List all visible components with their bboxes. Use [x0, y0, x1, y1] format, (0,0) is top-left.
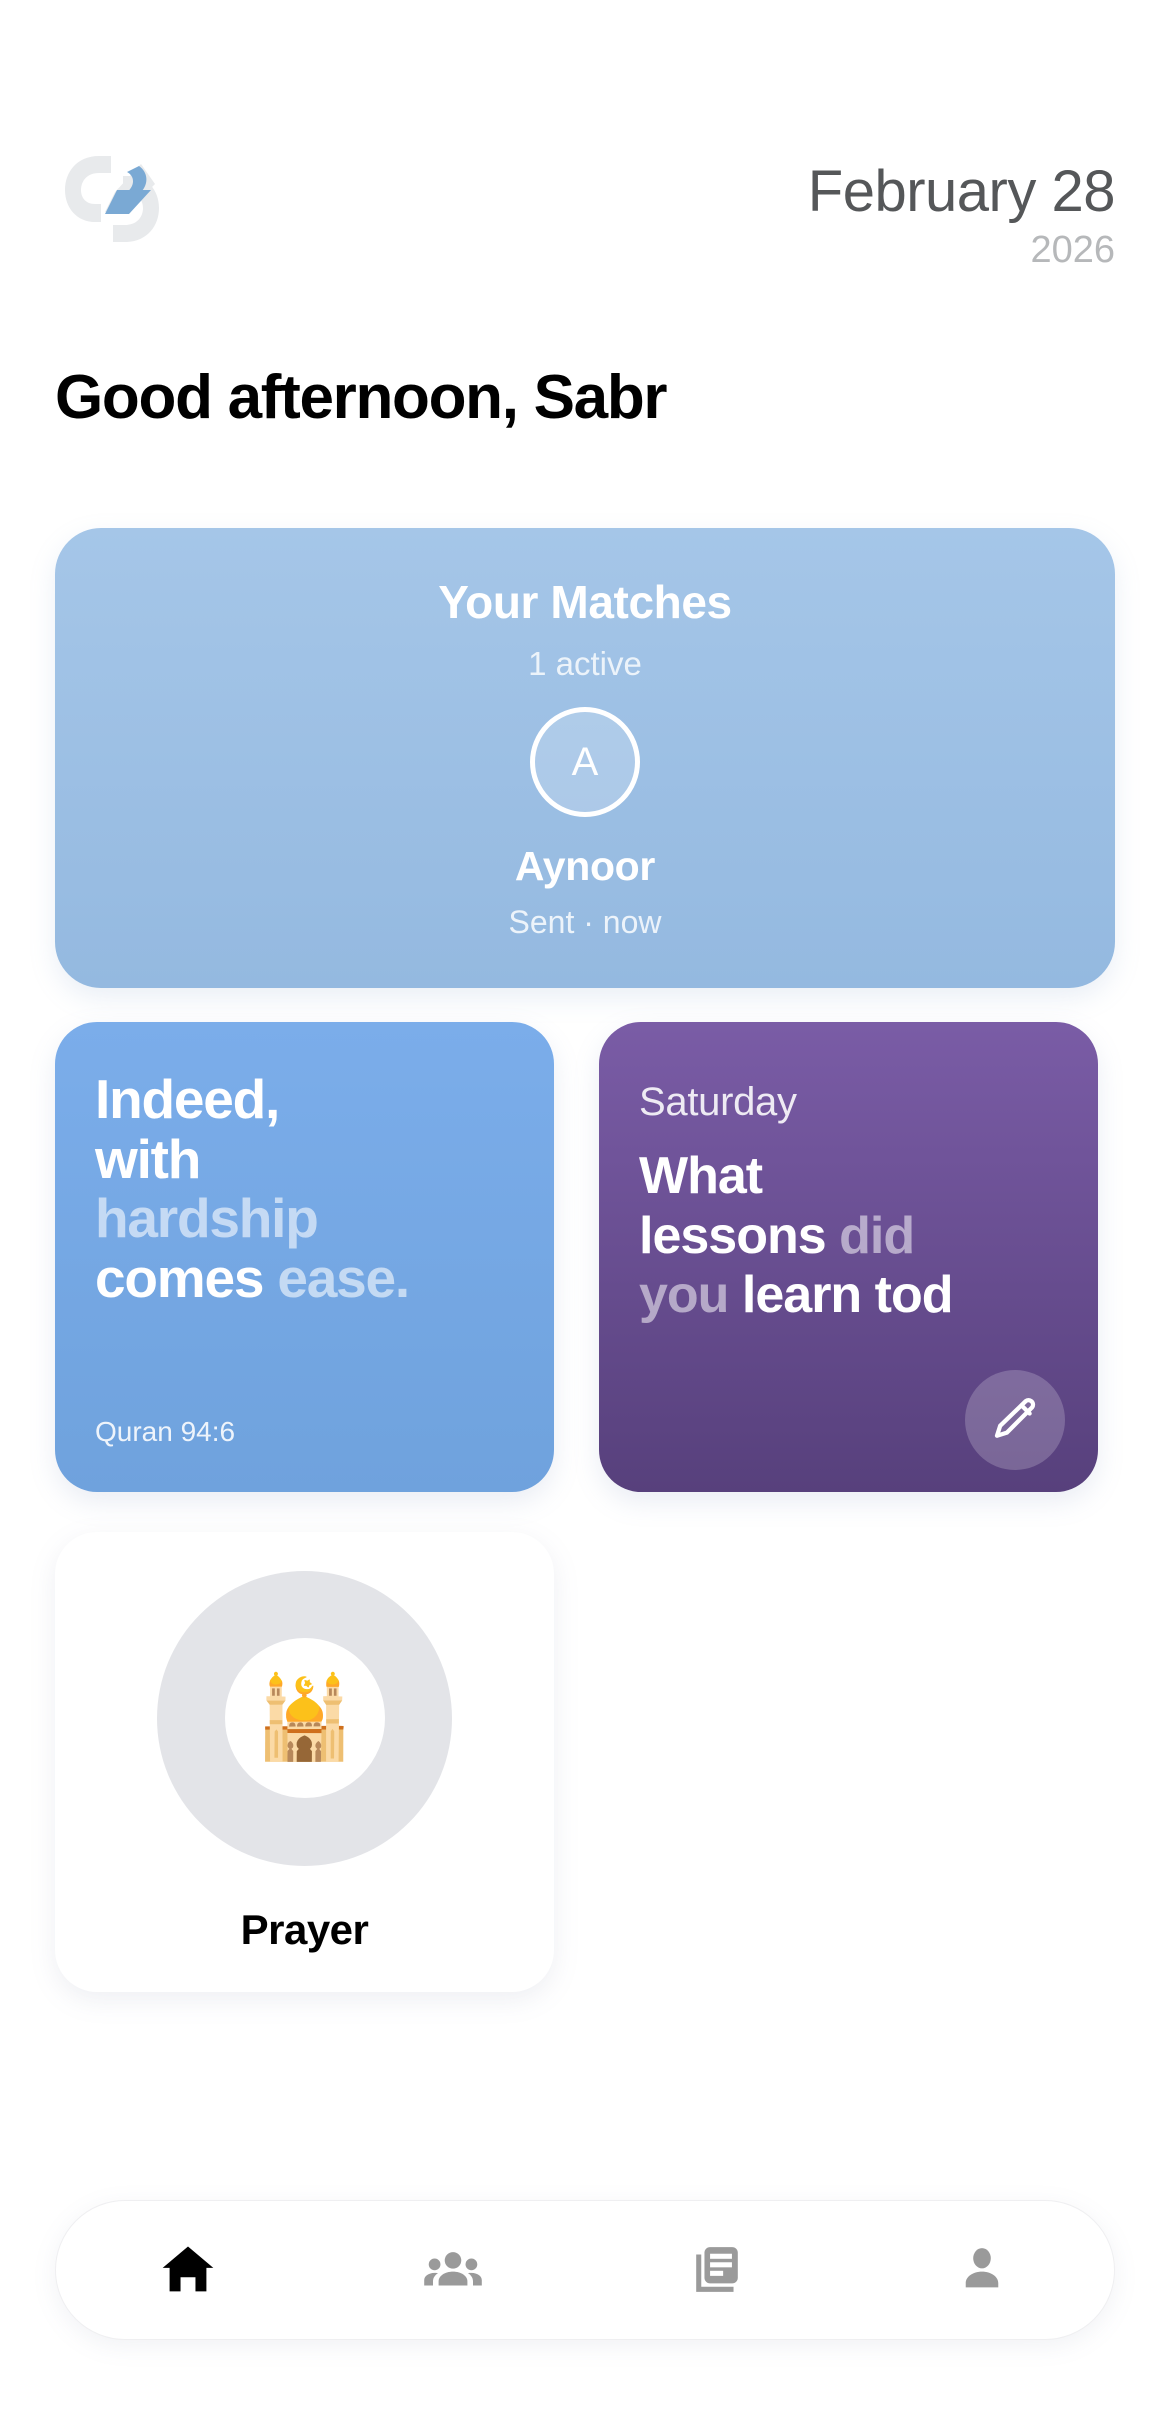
- mosque-icon: 🕌: [225, 1638, 385, 1798]
- journal-day: Saturday: [639, 1080, 1058, 1125]
- matches-title: Your Matches: [438, 575, 731, 629]
- nav-item-library[interactable]: [585, 2238, 850, 2302]
- journal-word-6: tod: [875, 1266, 953, 1324]
- feature-card-row: Indeed, with hardship comes ease. Quran …: [55, 1022, 1115, 1492]
- app-header: February 28 2026: [55, 0, 1115, 274]
- shortcut-prayer[interactable]: 🕌 Prayer: [55, 1532, 554, 1992]
- shortcut-row: 🕌 Prayer: [55, 1532, 1115, 1992]
- match-status: Sent · now: [509, 904, 662, 941]
- nav-item-profile[interactable]: [850, 2238, 1115, 2302]
- pencil-icon[interactable]: [965, 1370, 1065, 1470]
- quote-reference: Quran 94:6: [95, 1416, 514, 1448]
- avatar[interactable]: A: [530, 707, 640, 817]
- progress-ring: 🕌: [157, 1571, 452, 1866]
- home-icon: [156, 2238, 220, 2302]
- journal-prompt: What lessons did you learn tod: [639, 1147, 1058, 1325]
- nav-item-matches[interactable]: [321, 2238, 586, 2302]
- journal-card[interactable]: Saturday What lessons did you learn tod: [599, 1022, 1098, 1492]
- date-display: February 28 2026: [808, 140, 1115, 274]
- quote-card[interactable]: Indeed, with hardship comes ease. Quran …: [55, 1022, 554, 1492]
- matches-active-count: 1 active: [528, 645, 642, 683]
- sabr-infinity-logo-icon[interactable]: [55, 140, 173, 258]
- nav-item-home[interactable]: [56, 2238, 321, 2302]
- page-title: Good afternoon, Sabr: [55, 362, 1115, 433]
- date-year: 2026: [808, 227, 1115, 275]
- people-icon: [421, 2238, 485, 2302]
- avatar-initial: A: [572, 740, 599, 785]
- shortcut-label: Prayer: [241, 1906, 369, 1954]
- journal-word-5: learn: [742, 1266, 861, 1324]
- app-screen: February 28 2026 Good afternoon, Sabr Yo…: [0, 0, 1170, 2412]
- journal-word-3: did: [839, 1207, 914, 1265]
- journal-word-4: you: [639, 1266, 728, 1324]
- bottom-navigation: [55, 2200, 1115, 2340]
- quote-word-3: hardship: [95, 1187, 318, 1249]
- quote-word-5: ease.: [277, 1247, 409, 1309]
- matches-card[interactable]: Your Matches 1 active A Aynoor Sent · no…: [55, 528, 1115, 988]
- journal-word-2: lessons: [639, 1207, 826, 1265]
- person-icon: [950, 2238, 1014, 2302]
- quote-word-4: comes: [95, 1247, 263, 1309]
- match-name: Aynoor: [515, 843, 655, 890]
- quote-text: Indeed, with hardship comes ease.: [95, 1070, 514, 1308]
- quote-word-2: with: [95, 1128, 200, 1190]
- date-main: February 28: [808, 162, 1115, 223]
- library-books-icon: [685, 2238, 749, 2302]
- journal-word-1: What: [639, 1147, 762, 1205]
- quote-word-1: Indeed,: [95, 1068, 279, 1130]
